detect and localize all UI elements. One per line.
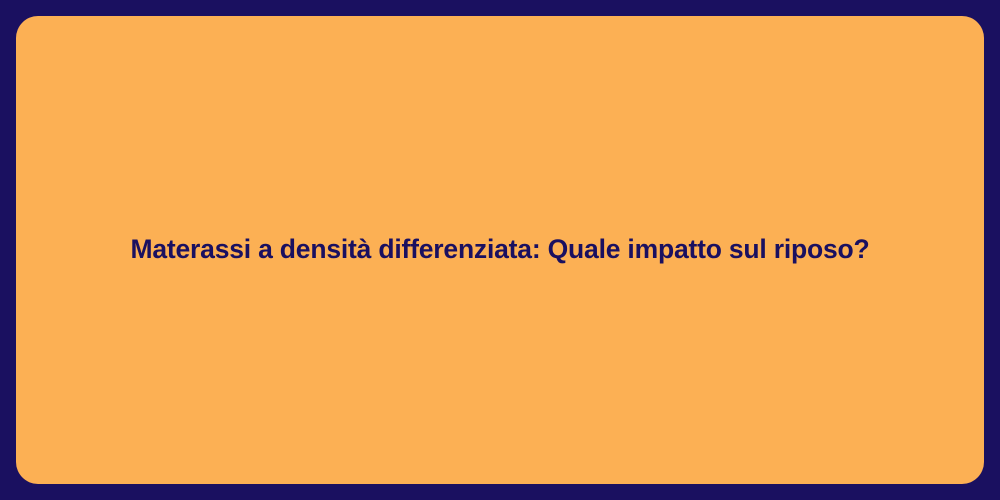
page-title: Materassi a densità differenziata: Quale…	[100, 233, 899, 266]
banner-card: Materassi a densità differenziata: Quale…	[16, 16, 984, 484]
